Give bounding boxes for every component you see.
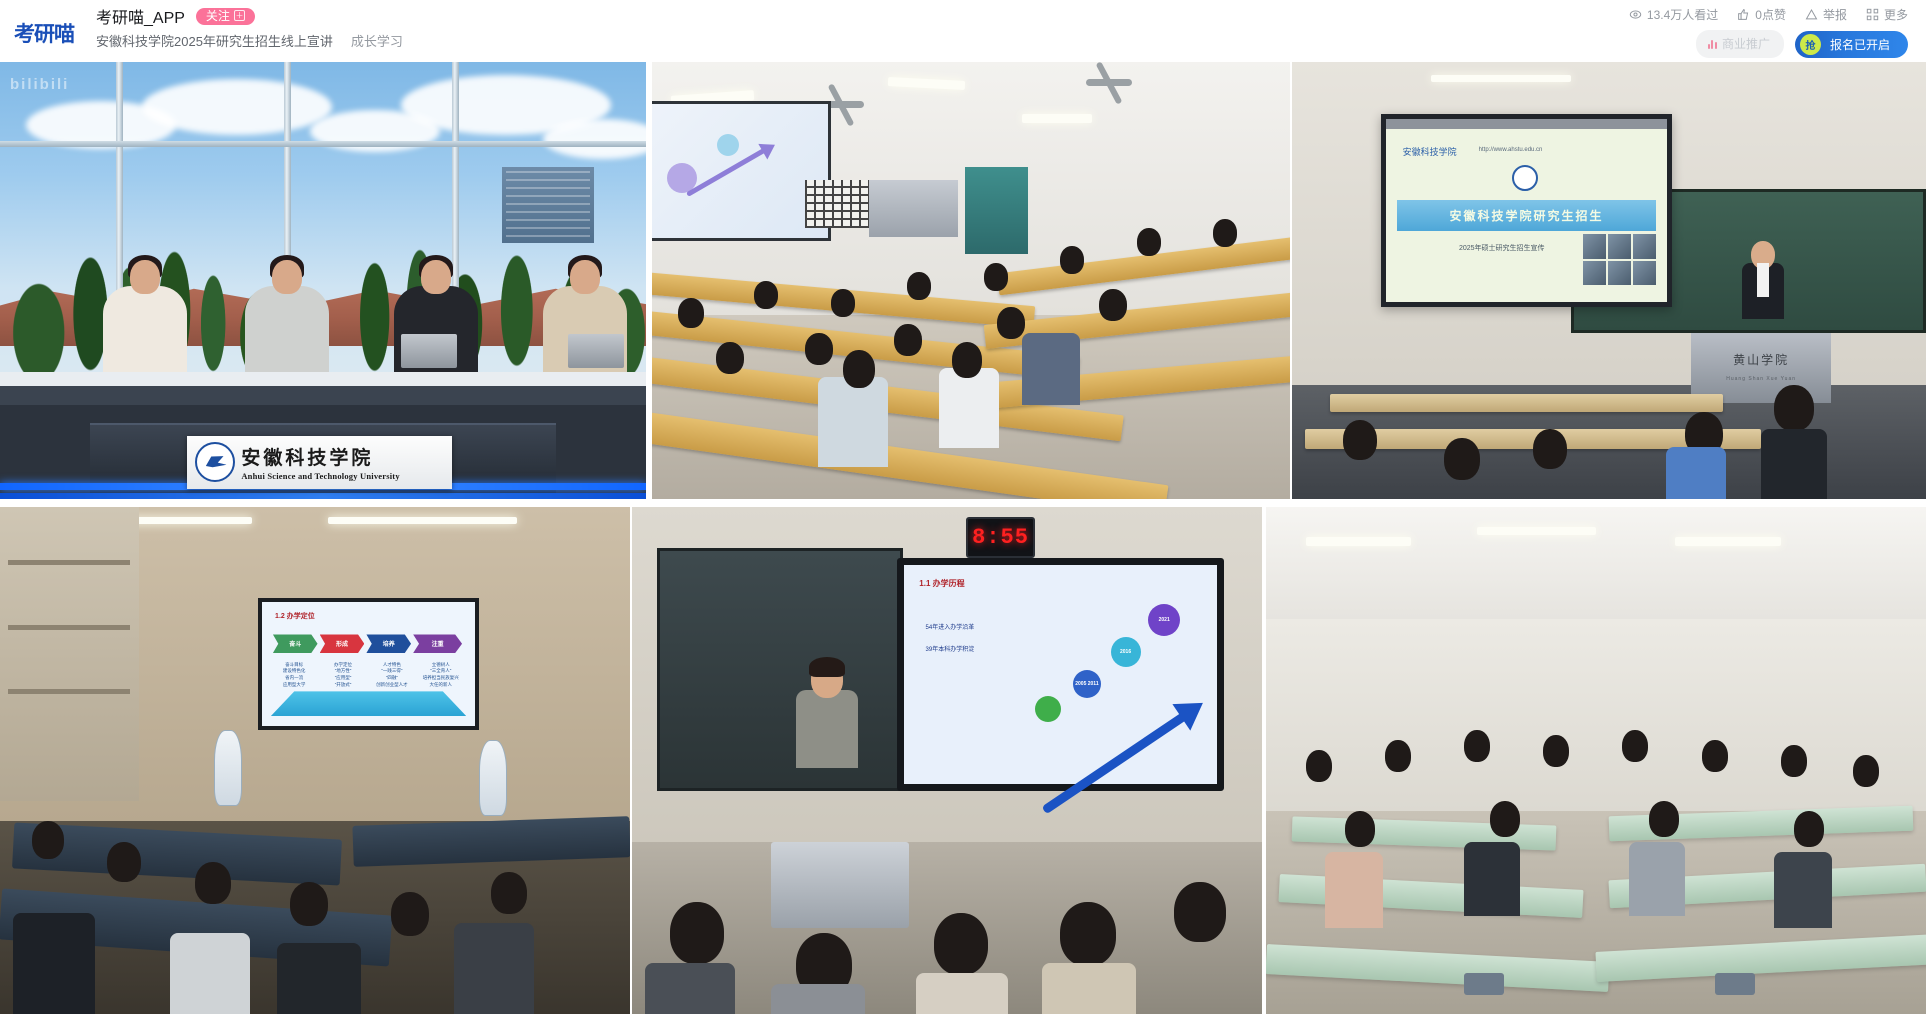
- ceiling-lamp: [1477, 527, 1596, 535]
- student-head: [1137, 228, 1161, 256]
- student-body: [1629, 842, 1685, 916]
- meeting-room-scene: 1.2 办学定位 奋斗 形成 培养 注重 奋斗目标建设特色化省内一流应用型大学 …: [0, 507, 630, 1014]
- student-head: [1649, 801, 1679, 837]
- slide-bullet: 54年进入办学沿革: [926, 622, 975, 631]
- university-seal-icon: [1512, 165, 1538, 191]
- slide-column: 人才特色"一践三得""四融"创新创业型人才: [369, 662, 416, 689]
- slide-title: 1.2 办学定位: [275, 611, 315, 621]
- milestone-bubble: 2005 2011: [1073, 670, 1101, 698]
- video-meta-row: 安徽科技学院2025年研究生招生线上宣讲 成长学习: [96, 31, 403, 50]
- student-head: [997, 307, 1025, 339]
- anchor-person: [245, 286, 329, 372]
- attendee-body: [277, 943, 361, 1014]
- page-root: 考研喵 考研喵_APP 关注 ＋ 安徽科技学院2025年研究生招生线上宣讲 成长…: [0, 0, 1926, 1014]
- report-label: 举报: [1823, 6, 1847, 23]
- attendee-head: [491, 872, 527, 914]
- slide-base-banner: [271, 691, 467, 716]
- attendee-head: [195, 862, 231, 904]
- student-head: [1774, 385, 1814, 431]
- views-label: 13.4万人看过: [1647, 6, 1718, 23]
- likes-label: 0点赞: [1755, 6, 1786, 23]
- presentation-screen: 1.2 办学定位 奋斗 形成 培养 注重 奋斗目标建设特色化省内一流应用型大学 …: [258, 598, 479, 730]
- student-body: [771, 984, 865, 1014]
- milestone-bubble: 2016: [1111, 637, 1141, 667]
- student-head: [716, 342, 744, 374]
- thumb: [1633, 234, 1656, 259]
- student-body: [1774, 852, 1832, 928]
- laptop-prop: [568, 334, 624, 368]
- photo-huangshan-university-session[interactable]: 安徽科技学院 http://www.ahstu.edu.cn 安徽科技学院研究生…: [1292, 62, 1926, 499]
- slide-chevron: 形成: [320, 634, 365, 653]
- desk-led-strip: [0, 493, 646, 499]
- ceiling-lamp: [1306, 537, 1412, 545]
- news-desk: 安徽科技学院 Anhui Science and Technology Univ…: [0, 372, 646, 499]
- student-head: [1060, 902, 1116, 966]
- student-head: [1543, 735, 1569, 767]
- photo-classroom-teacher-slide[interactable]: 8:55 1.1 办学历程 54年进入办学沿革 39年本科办学积淀 2005 2…: [632, 507, 1262, 1014]
- student-head: [1794, 811, 1824, 847]
- student-head: [1444, 438, 1480, 480]
- more-label: 更多: [1884, 6, 1908, 23]
- more-stat[interactable]: 更多: [1866, 6, 1908, 23]
- video-header: 考研喵 考研喵_APP 关注 ＋ 安徽科技学院2025年研究生招生线上宣讲 成长…: [0, 0, 1926, 62]
- thumb: [1608, 234, 1631, 259]
- student-body: [916, 973, 1008, 1014]
- student-head: [1099, 289, 1127, 321]
- classroom-ceiling: [1266, 507, 1926, 619]
- student-head: [754, 281, 778, 309]
- student-head: [1174, 882, 1226, 942]
- bookshelf-cabinet: [0, 507, 139, 801]
- attendee-head: [391, 892, 429, 936]
- student-body: [1042, 963, 1136, 1014]
- slide-logo-text: 安徽科技学院: [1403, 145, 1457, 158]
- slide-subtitle: 2025年硕士研究生招生宣传: [1459, 243, 1545, 253]
- podium: [771, 842, 910, 928]
- university-name-cn: 安徽科技学院: [241, 443, 399, 470]
- more-icon: [1866, 8, 1879, 21]
- student-head: [1702, 740, 1728, 772]
- ceiling-lamp: [1022, 114, 1092, 123]
- chart-bars-icon: [1708, 39, 1717, 49]
- photo-meeting-room-presentation[interactable]: 1.2 办学定位 奋斗 形成 培养 注重 奋斗目标建设特色化省内一流应用型大学 …: [0, 507, 630, 1014]
- follow-label: 关注: [206, 10, 230, 22]
- plus-icon: ＋: [234, 10, 245, 21]
- attendee-body: [454, 923, 534, 1014]
- likes-stat[interactable]: 0点赞: [1737, 6, 1786, 23]
- student-head: [1385, 740, 1411, 772]
- laptop-prop: [401, 334, 457, 368]
- teacher-person: [796, 690, 858, 768]
- thumb: [1633, 261, 1656, 286]
- attendee-head: [290, 882, 328, 926]
- stats-row: 13.4万人看过 0点赞 举报: [1629, 6, 1908, 23]
- student-head: [843, 350, 875, 388]
- slide-band-title: 安徽科技学院研究生招生: [1450, 207, 1604, 224]
- slide-column: 办学定位"地方性""应用型""开放式": [320, 662, 367, 689]
- slide-chevron: 培养: [366, 634, 411, 653]
- university-nameplate-text: 安徽科技学院 Anhui Science and Technology Univ…: [241, 443, 399, 481]
- classroom-scene: 8:55 1.1 办学历程 54年进入办学沿革 39年本科办学积淀 2005 2…: [632, 507, 1262, 1014]
- slide-title-band: 安徽科技学院研究生招生: [1397, 200, 1656, 231]
- clock-time: 8:55: [972, 525, 1029, 550]
- student-head: [984, 263, 1008, 291]
- thumb: [1583, 261, 1606, 286]
- slide-url-text: http://www.ahstu.edu.cn: [1479, 147, 1543, 153]
- student-head: [952, 342, 982, 378]
- student-body: [818, 377, 888, 467]
- follow-button[interactable]: 关注 ＋: [196, 8, 255, 25]
- student-head: [1464, 730, 1490, 762]
- head-shape: [272, 260, 302, 294]
- lecture-hall-scene: [652, 62, 1290, 499]
- student-head: [1490, 801, 1520, 837]
- video-title: 安徽科技学院2025年研究生招生线上宣讲: [96, 31, 333, 50]
- student-head: [1306, 750, 1332, 782]
- bench-desk: [1330, 394, 1723, 411]
- stream-watermark: bilibili: [10, 76, 69, 93]
- student-head: [907, 272, 931, 300]
- enroll-badge: 抢: [1800, 34, 1821, 55]
- student-head: [1345, 811, 1375, 847]
- slide-photo-thumbnails: [1583, 234, 1656, 285]
- head-shape: [130, 260, 160, 294]
- screen-roller: [1386, 119, 1668, 128]
- slide-column: 立德树人"三全育人"培养担当民族复兴大任的新人: [417, 662, 464, 689]
- shelf: [8, 560, 130, 565]
- enroll-button[interactable]: 抢 报名已开启: [1795, 31, 1908, 58]
- decor-vase: [214, 730, 242, 806]
- student-body: [1761, 429, 1827, 499]
- shelf: [8, 625, 130, 630]
- ceiling-lamp: [1431, 75, 1570, 82]
- warning-icon: [1805, 8, 1818, 21]
- head-shape: [570, 260, 600, 294]
- promo-button[interactable]: 商业推广: [1696, 30, 1784, 58]
- projection-screen: 安徽科技学院 http://www.ahstu.edu.cn 安徽科技学院研究生…: [1381, 114, 1673, 306]
- category-tag[interactable]: 成长学习: [351, 31, 403, 50]
- views-stat: 13.4万人看过: [1629, 6, 1718, 23]
- student-head: [1533, 429, 1567, 469]
- ceiling-lamp: [1675, 537, 1781, 545]
- photo-bright-classroom-students[interactable]: [1266, 507, 1926, 1014]
- classroom-wall: [1266, 619, 1926, 812]
- thumb: [1583, 234, 1606, 259]
- chalkboard: [657, 548, 903, 791]
- photo-gallery-grid: 安徽科技学院 Anhui Science and Technology Univ…: [0, 62, 1926, 1014]
- anchor-person: [103, 286, 187, 372]
- student-head: [1213, 219, 1237, 247]
- slide-chevron: 注重: [413, 634, 462, 653]
- enroll-label: 报名已开启: [1830, 36, 1890, 53]
- attendee-body: [170, 933, 250, 1014]
- university-name-en: Anhui Science and Technology University: [241, 471, 399, 481]
- report-stat[interactable]: 举报: [1805, 6, 1847, 23]
- student-head: [1781, 745, 1807, 777]
- huangshan-classroom-scene: 安徽科技学院 http://www.ahstu.edu.cn 安徽科技学院研究生…: [1292, 62, 1926, 499]
- slide-bubble: [717, 134, 739, 156]
- podium-name-cn: 黄山学院: [1691, 351, 1830, 368]
- student-body: [939, 368, 999, 448]
- student-head: [670, 902, 724, 964]
- head-shape: [421, 260, 451, 294]
- slide-title: 1.1 办学历程: [919, 578, 964, 589]
- student-body: [1325, 852, 1383, 928]
- window-rail: [0, 141, 646, 147]
- student-head: [934, 913, 988, 975]
- student-chair: [1715, 973, 1755, 995]
- student-head: [1622, 730, 1648, 762]
- photo-lecture-hall-audience[interactable]: [652, 62, 1290, 499]
- promo-label: 商业推广: [1722, 35, 1770, 52]
- attendee-body: [13, 913, 95, 1014]
- slide-bullet: 39年本科办学积淀: [926, 644, 975, 653]
- university-nameplate: 安徽科技学院 Anhui Science and Technology Univ…: [187, 436, 452, 489]
- student-chair: [1464, 973, 1504, 995]
- milestone-bubble: 2021: [1148, 604, 1180, 636]
- podium: [869, 180, 958, 237]
- milestone-bubble: [1035, 696, 1061, 722]
- eye-icon: [1629, 8, 1642, 21]
- projection-screen: [652, 101, 831, 241]
- student-head: [1060, 246, 1084, 274]
- student-body: [645, 963, 735, 1014]
- account-row: 考研喵_APP 关注 ＋: [96, 4, 255, 28]
- slide-chevron: 奋斗: [273, 634, 318, 653]
- slide-column: 奋斗目标建设特色化省内一流应用型大学: [271, 662, 318, 689]
- student-body: [1666, 447, 1726, 499]
- student-head: [1853, 755, 1879, 787]
- decor-vase: [479, 740, 507, 816]
- shelf: [8, 689, 130, 694]
- university-seal-icon: [195, 442, 235, 482]
- bright-classroom-scene: [1266, 507, 1926, 1014]
- student-body: [1464, 842, 1520, 916]
- digital-clock: 8:55: [966, 517, 1035, 558]
- student-body: [1022, 333, 1080, 405]
- attendee-head: [32, 821, 64, 859]
- student-head: [894, 324, 922, 356]
- student-head: [1343, 420, 1377, 460]
- student-head: [831, 289, 855, 317]
- student-head: [805, 333, 833, 365]
- photo-online-livestream-studio[interactable]: 安徽科技学院 Anhui Science and Technology Univ…: [0, 62, 646, 499]
- studio-scene: 安徽科技学院 Anhui Science and Technology Univ…: [0, 62, 646, 499]
- account-name[interactable]: 考研喵_APP: [96, 4, 185, 28]
- podium-name-pinyin: Huang Shan Xue Yuan: [1691, 376, 1830, 382]
- presentation-display: 1.1 办学历程 54年进入办学沿革 39年本科办学积淀 2005 2011 2…: [897, 558, 1225, 791]
- podium: 黄山学院 Huang Shan Xue Yuan: [1691, 333, 1830, 403]
- brand-logo[interactable]: 考研喵: [14, 18, 74, 48]
- thumbs-up-icon: [1737, 8, 1750, 21]
- ceiling-lamp: [328, 517, 517, 524]
- attendee-head: [107, 842, 141, 882]
- student-head: [678, 298, 704, 328]
- ceiling-fan-icon: [1086, 79, 1132, 86]
- classroom-door: [965, 167, 1029, 254]
- thumb: [1608, 261, 1631, 286]
- action-buttons: 商业推广 抢 报名已开启: [1696, 30, 1908, 58]
- presenter-person: [1742, 263, 1784, 319]
